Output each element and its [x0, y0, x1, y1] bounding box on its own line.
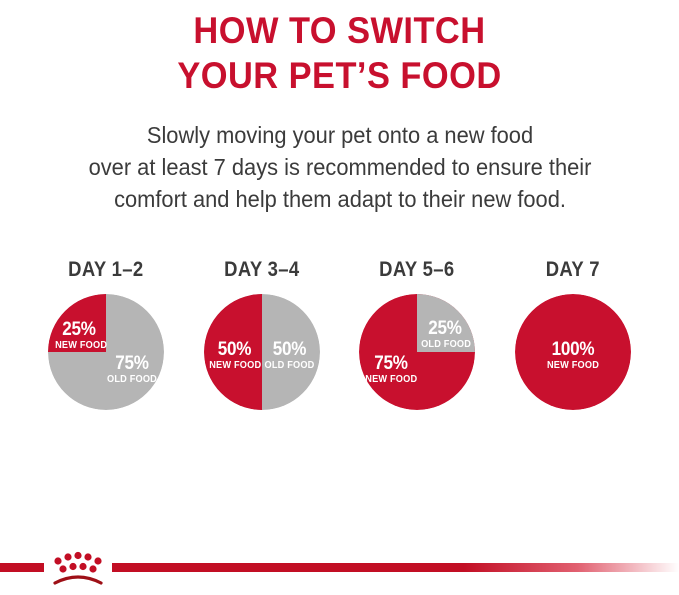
pie-2-old-food-sub: OLD FOOD	[264, 361, 315, 371]
pie-4-labels: 100% NEW FOOD	[515, 294, 631, 410]
page-footer	[0, 545, 679, 595]
page-title-line-2: YOUR PET’S FOOD	[24, 53, 655, 98]
pie-3-new-food-pct: 75%	[366, 354, 416, 373]
page-title-line-1: HOW TO SWITCH	[24, 8, 655, 53]
pie-block-day-1-2: DAY 1–2 25% NEW FOOD 75% OLD FOOD	[41, 258, 171, 438]
intro-paragraph: Slowly moving your pet onto a new food o…	[36, 119, 644, 215]
pie-3-labels: 25% OLD FOOD 75% NEW FOOD	[359, 294, 475, 410]
pie-block-day-5-6: DAY 5–6 25% OLD FOOD 75% NEW FOOD	[352, 258, 482, 438]
pie-3-old-food-sub: OLD FOOD	[421, 340, 469, 350]
pie-3-new-food-label: 75% NEW FOOD	[363, 354, 419, 385]
pie-chart-day-7: 100% NEW FOOD	[515, 294, 631, 410]
pie-2-new-food-sub: NEW FOOD	[209, 361, 260, 371]
intro-line-1: Slowly moving your pet onto a new food	[36, 119, 644, 151]
pie-chart-day-3-4: 50% NEW FOOD 50% OLD FOOD	[204, 294, 320, 410]
pie-3-old-food-label: 25% OLD FOOD	[419, 319, 471, 350]
pie-chart-day-5-6: 25% OLD FOOD 75% NEW FOOD	[359, 294, 475, 410]
pie-4-new-food-label: 100% NEW FOOD	[533, 340, 613, 371]
intro-line-2: over at least 7 days is recommended to e…	[36, 151, 644, 183]
pie-1-old-food-label: 75% OLD FOOD	[104, 354, 160, 385]
day-label-4: DAY 7	[546, 258, 600, 282]
pie-2-new-food-pct: 50%	[209, 340, 259, 359]
pie-2-old-food-pct: 50%	[264, 340, 314, 359]
page-header: HOW TO SWITCH YOUR PET’S FOOD	[0, 0, 679, 98]
day-label-1: DAY 1–2	[68, 258, 143, 282]
pie-1-old-food-pct: 75%	[107, 354, 157, 373]
intro-line-3: comfort and help them adapt to their new…	[36, 183, 644, 215]
pie-4-new-food-sub: NEW FOOD	[536, 361, 610, 371]
pie-2-old-food-label: 50% OLD FOOD	[262, 340, 317, 371]
pie-1-labels: 25% NEW FOOD 75% OLD FOOD	[48, 294, 164, 410]
pie-1-new-food-pct: 25%	[56, 320, 103, 339]
pie-1-old-food-sub: OLD FOOD	[106, 375, 158, 385]
pie-1-new-food-label: 25% NEW FOOD	[53, 320, 105, 351]
pie-3-old-food-pct: 25%	[422, 319, 469, 338]
pie-4-new-food-pct: 100%	[537, 340, 609, 359]
pie-chart-day-1-2: 25% NEW FOOD 75% OLD FOOD	[48, 294, 164, 410]
day-label-2: DAY 3–4	[224, 258, 299, 282]
pie-1-new-food-sub: NEW FOOD	[55, 341, 103, 351]
pie-block-day-3-4: DAY 3–4 50% NEW FOOD 50% OLD FOOD	[197, 258, 327, 438]
pie-3-new-food-sub: NEW FOOD	[366, 375, 418, 385]
pie-chart-row: DAY 1–2 25% NEW FOOD 75% OLD FOOD DAY 3–…	[0, 258, 679, 438]
pie-2-new-food-label: 50% NEW FOOD	[207, 340, 262, 371]
pie-block-day-7: DAY 7 100% NEW FOOD	[508, 258, 638, 438]
footer-bar-left	[0, 563, 44, 572]
footer-bar-right	[112, 563, 679, 572]
crown-logo-icon	[44, 545, 112, 591]
page-title: HOW TO SWITCH YOUR PET’S FOOD	[24, 8, 655, 98]
day-label-3: DAY 5–6	[380, 258, 455, 282]
pie-2-labels: 50% NEW FOOD 50% OLD FOOD	[204, 294, 320, 410]
